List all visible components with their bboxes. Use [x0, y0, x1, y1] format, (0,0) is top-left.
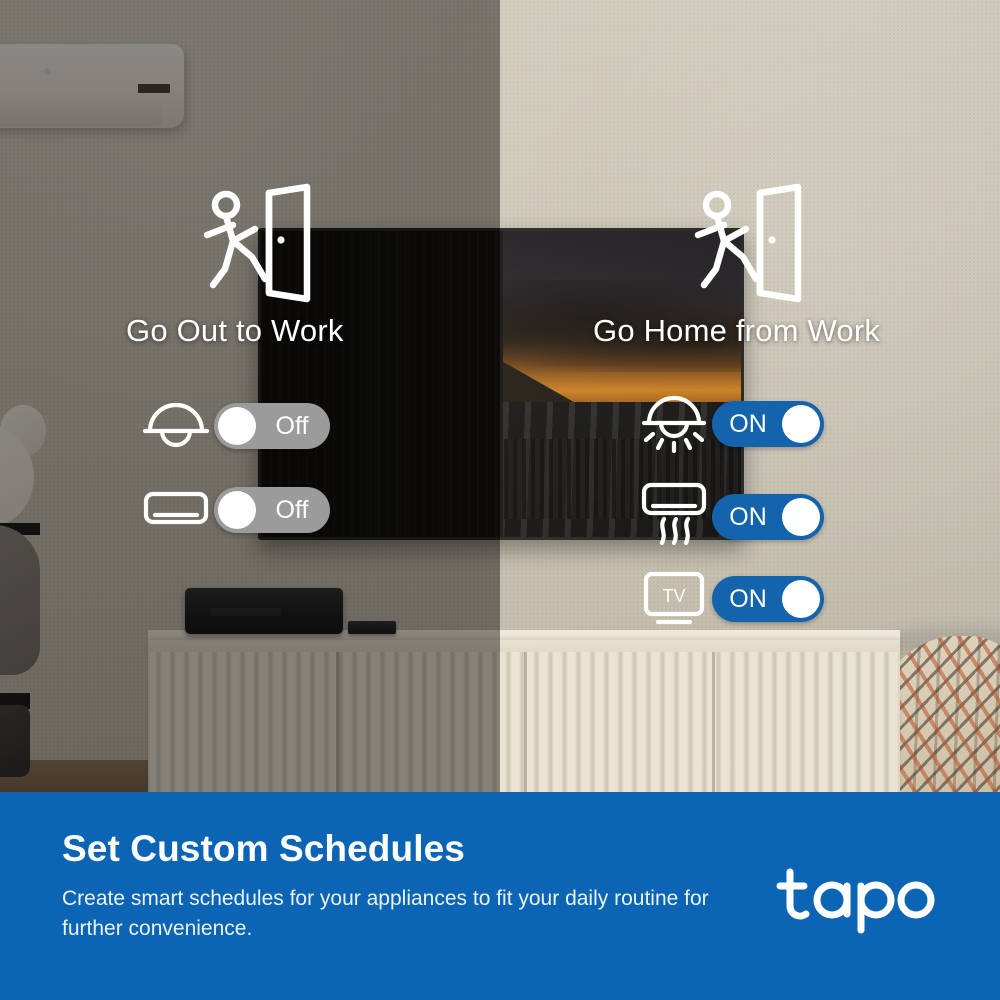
device-row-ac-on: ON	[636, 481, 824, 553]
banner-headline: Set Custom Schedules	[62, 828, 465, 870]
toggle-label: Off	[254, 414, 330, 439]
scene-go-out-to-work: Go Out to Work Off	[0, 0, 500, 792]
scene-go-home-from-work: Go Home from Work ON	[500, 0, 1000, 792]
tv-icon-text: TV	[662, 586, 685, 606]
toggle-tv-on[interactable]: ON	[712, 576, 824, 622]
toggle-light-on[interactable]: ON	[712, 401, 824, 447]
scene-title-go-out: Go Out to Work	[126, 313, 344, 349]
toggle-label: ON	[712, 412, 784, 437]
toggle-ac-on[interactable]: ON	[712, 494, 824, 540]
toggle-label: Off	[254, 498, 330, 523]
tv-icon: TV	[636, 570, 712, 628]
lamp-lit-icon	[636, 393, 712, 455]
promo-image: Go Out to Work Off	[0, 0, 1000, 1000]
banner-subtext: Create smart schedules for your applianc…	[62, 884, 742, 944]
device-row-light-off: Off	[138, 399, 330, 453]
device-row-ac-off: Off	[138, 487, 330, 533]
bottom-banner: Set Custom Schedules Create smart schedu…	[0, 792, 1000, 1000]
scene-title-go-home: Go Home from Work	[593, 313, 880, 349]
air-conditioner-airflow-icon	[636, 481, 712, 553]
toggle-light-off[interactable]: Off	[214, 403, 330, 449]
air-conditioner-icon	[138, 488, 214, 532]
tapo-logo	[776, 864, 946, 934]
toggle-knob	[782, 498, 820, 536]
toggle-knob	[218, 491, 256, 529]
toggle-label: ON	[712, 587, 784, 612]
toggle-label: ON	[712, 505, 784, 530]
device-row-light-on: ON	[636, 393, 824, 455]
lamp-icon	[138, 399, 214, 453]
toggle-knob	[782, 580, 820, 618]
device-row-tv-on: TV ON	[636, 570, 824, 628]
person-entering-door-icon	[686, 183, 814, 312]
toggle-ac-off[interactable]: Off	[214, 487, 330, 533]
person-exiting-door-icon	[195, 183, 323, 312]
toggle-knob	[218, 407, 256, 445]
toggle-knob	[782, 405, 820, 443]
